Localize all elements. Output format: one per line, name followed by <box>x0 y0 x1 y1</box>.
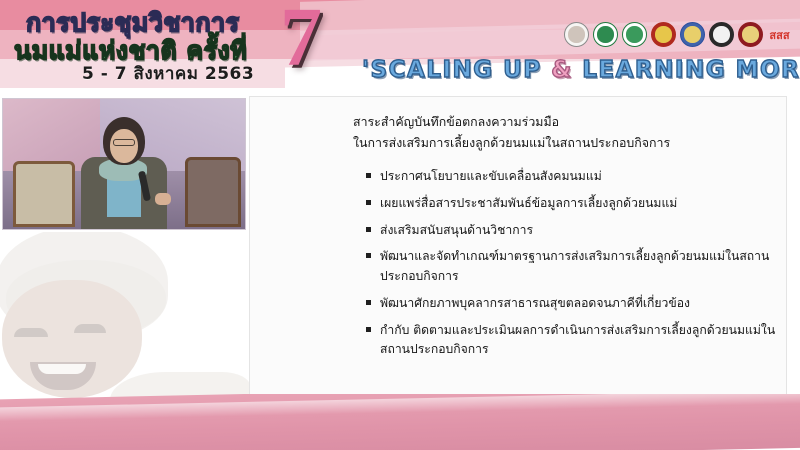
slogan-part-learning-more: LEARNING MORE' <box>573 57 800 83</box>
logo-royal-emblem <box>680 22 705 47</box>
logo-ministry-public-health <box>593 22 618 47</box>
logo-thaihealth-sss: สสส <box>767 22 792 47</box>
content-heading: สาระสำคัญบันทึกข้อตกลงความร่วมมือ ในการส… <box>353 111 773 154</box>
logo-department-health <box>622 22 647 47</box>
slogan-part-scaling-up: 'SCALING UP <box>362 57 551 83</box>
logo-ministry-labour <box>651 22 676 47</box>
list-item: ส่งเสริมสนับสนุนด้านวิชาการ <box>366 221 778 241</box>
photo-speaker-face <box>110 129 138 163</box>
watermark-eye-left <box>14 328 48 337</box>
photo-chair-right <box>185 157 241 227</box>
list-item: พัฒนาศักยภาพบุคลากรสาธารณสุขตลอดจนภาคีที… <box>366 294 778 314</box>
slogan-ampersand: & <box>551 57 573 83</box>
photo-chair-left <box>13 161 75 227</box>
content-heading-line1: สาระสำคัญบันทึกข้อตกลงความร่วมมือ <box>353 111 773 132</box>
presentation-slide: การประชุมวิชาการ นมแม่แห่งชาติ ครั้งที่ … <box>0 0 800 450</box>
partner-logo-strip: สสส <box>564 22 792 47</box>
edition-number: 7 <box>280 0 322 80</box>
glasses-icon <box>113 139 135 146</box>
list-item: กำกับ ติดตามและประเมินผลการดำเนินการส่งเ… <box>366 321 778 361</box>
watermark-eye-right <box>74 324 106 333</box>
logo-ministry-interior <box>738 22 763 47</box>
watermark-teeth <box>38 364 86 374</box>
list-item: พัฒนาและจัดทำเกณฑ์มาตรฐานการส่งเสริมการเ… <box>366 247 778 287</box>
photo-speaker-shirt <box>107 177 141 217</box>
list-item: เผยแพร่สื่อสารประชาสัมพันธ์ข้อมูลการเลี้… <box>366 194 778 214</box>
conference-date: 5 - 7 สิงหาคม 2563 <box>82 60 254 87</box>
content-bullet-list: ประกาศนโยบายและขับเคลื่อนสังคมนมแม่ เผยแ… <box>366 167 778 367</box>
logo-princess-foundation <box>564 22 589 47</box>
photo-speaker-head <box>103 117 145 165</box>
logo-social-security-office <box>709 22 734 47</box>
list-item: ประกาศนโยบายและขับเคลื่อนสังคมนมแม่ <box>366 167 778 187</box>
content-heading-line2: ในการส่งเสริมการเลี้ยงลูกด้วยนมแม่ในสถาน… <box>353 132 773 153</box>
speaker-video-frame[interactable] <box>2 98 246 230</box>
footer-band <box>0 394 800 450</box>
photo-speaker-hand <box>155 193 171 205</box>
content-panel: สาระสำคัญบันทึกข้อตกลงความร่วมมือ ในการส… <box>249 96 787 402</box>
conference-slogan: 'SCALING UP & LEARNING MORE' <box>362 57 800 83</box>
